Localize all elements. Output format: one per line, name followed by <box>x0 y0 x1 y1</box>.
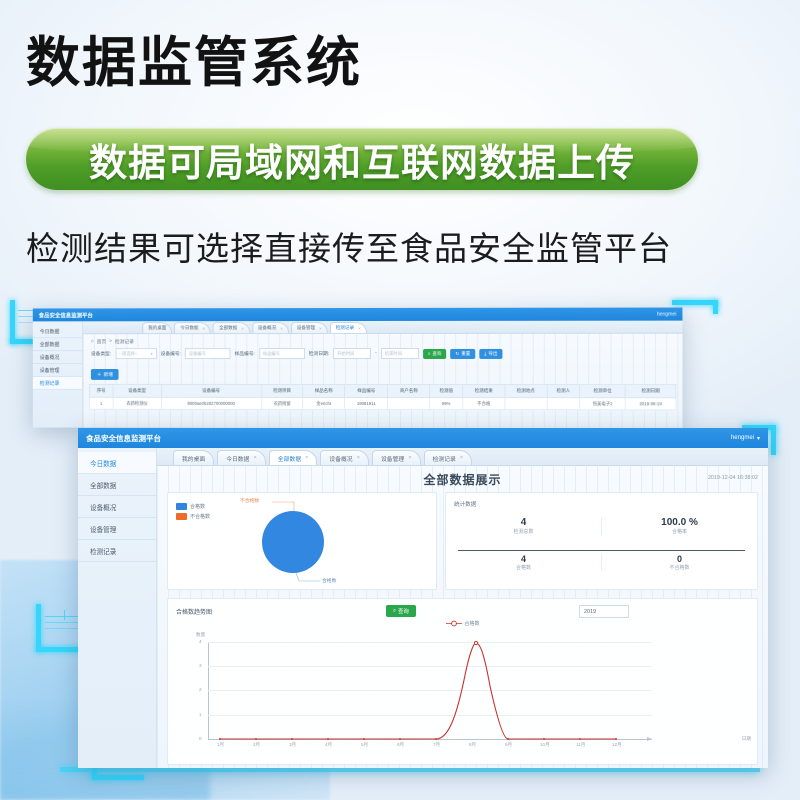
cell-detect-person <box>547 398 580 410</box>
stat-cell-fail-count: 0 不合格数 <box>602 554 757 571</box>
back-window-body: 今日数据 全部数据 设备概况 设备管理 检测记录 我的桌面 今日数据× 全部数据… <box>33 321 683 429</box>
tab-label: 今日数据 <box>180 325 198 331</box>
tab-my-desktop[interactable]: 我的桌面 <box>173 450 214 465</box>
breadcrumb-home[interactable]: 首页 <box>97 338 106 345</box>
filter-input-sample-no[interactable]: 样品编号 <box>259 348 305 359</box>
page-header: 全部数据展示 2019-12-04 16:38:02 <box>157 466 768 492</box>
front-window-body: 今日数据 全部数据 设备概况 设备管理 检测记录 我的桌面 今日数据× 全部数据… <box>78 448 768 768</box>
filter-select-value: --请选择-- <box>119 351 137 357</box>
button-label: 查询 <box>432 350 441 356</box>
filter-label-device-type: 设备类型: <box>91 350 111 357</box>
back-tabstrip: 我的桌面 今日数据× 全部数据× 设备概况× 设备管理× 检测记录× <box>83 321 682 335</box>
stat-cell-total: 4 检测总数 <box>446 517 602 535</box>
col-detect-result: 检测结果 <box>463 385 505 398</box>
sidebar-item-device-overview[interactable]: 设备概况 <box>33 351 82 364</box>
filter-label-device-no: 设备编号: <box>161 350 181 357</box>
filter-select-device-type[interactable]: --请选择--▾ <box>115 348 157 359</box>
front-content: 我的桌面 今日数据× 全部数据× 设备概况× 设备管理× 检测记录× 全部数据展… <box>157 448 768 768</box>
trend-chart-panel: 合格数趋势图 2019 ⌕查询 合格数 <box>167 598 758 765</box>
tab-label: 设备管理 <box>297 325 315 331</box>
trend-year-input[interactable]: 2019 <box>579 605 629 618</box>
tab-label: 设备管理 <box>381 454 404 463</box>
sidebar-item-device-management[interactable]: 设备管理 <box>78 518 156 540</box>
close-icon[interactable]: × <box>202 326 205 331</box>
sidebar-item-today-data[interactable]: 今日数据 <box>78 452 156 474</box>
close-icon[interactable]: × <box>241 326 244 331</box>
close-icon[interactable]: × <box>305 455 308 461</box>
placeholder-text: 设备编号 <box>189 351 206 357</box>
pie-chart-panel: 合格数 不合格数 不合格数 合格 <box>167 492 437 590</box>
tab-label: 设备概况 <box>258 325 276 331</box>
tab-label: 全部数据 <box>278 454 301 463</box>
sidebar-item-all-data[interactable]: 全部数据 <box>78 474 156 496</box>
plus-icon: ＋ <box>97 371 102 378</box>
back-user-menu[interactable]: hengmei <box>657 311 676 317</box>
cell-detect-result: 不合格 <box>463 398 505 410</box>
table-header-row: 序号 设备类型 设备编号 检测项目 样品名称 样品编号 商户名称 检测值 检测结… <box>89 384 675 397</box>
cell-detect-value: 99% <box>430 398 463 410</box>
tab-label: 设备概况 <box>329 454 352 463</box>
stat-value: 4 <box>446 517 601 528</box>
close-icon[interactable]: × <box>319 326 322 331</box>
stat-caption: 不合格数 <box>602 564 757 571</box>
poster-canvas: 数据监管系统 数据可局域网和互联网数据上传 检测结果可选择直接传至食品安全监管平… <box>0 0 800 800</box>
col-merchant: 商户名称 <box>388 385 430 398</box>
stat-caption: 合格数 <box>446 564 601 571</box>
tab-device-management[interactable]: 设备管理× <box>372 450 421 465</box>
year-value: 2019 <box>584 609 596 615</box>
close-icon[interactable]: × <box>460 455 463 461</box>
filter-input-date-end[interactable]: 结束时间 <box>381 348 419 359</box>
filter-label-detect-date: 检测日期: <box>309 350 329 357</box>
front-app-window: 食品安全信息监测平台 hengmei ▾ 今日数据 全部数据 设备概况 设备管理… <box>78 428 768 768</box>
user-name: hengmei <box>731 435 754 441</box>
back-app-window: 食品安全信息监测平台 hengmei 今日数据 全部数据 设备概况 设备管理 检… <box>33 308 683 429</box>
tab-device-overview[interactable]: 设备概况× <box>320 450 369 465</box>
col-device-no: 设备编号 <box>161 384 261 397</box>
tab-all-data[interactable]: 全部数据× <box>269 450 318 465</box>
col-index: 序号 <box>89 384 113 397</box>
close-icon[interactable]: × <box>253 455 256 461</box>
button-label: 重置 <box>461 350 470 356</box>
sidebar-item-device-overview[interactable]: 设备概况 <box>78 496 156 518</box>
close-icon[interactable]: × <box>280 326 283 331</box>
x-axis-label: 日期 <box>742 736 751 742</box>
front-app-title: 食品安全信息监测平台 <box>86 433 161 444</box>
stats-divider <box>458 550 745 551</box>
tab-detection-records[interactable]: 检测记录× <box>330 322 367 333</box>
reset-button[interactable]: ↻重置 <box>450 348 475 358</box>
stat-cell-pass-count: 4 合格数 <box>446 554 602 571</box>
tab-label: 我的桌面 <box>148 325 166 331</box>
back-content: 我的桌面 今日数据× 全部数据× 设备概况× 设备管理× 检测记录× ⌂ 首页 … <box>83 321 682 429</box>
statistics-panel: 统计数据 4 检测总数 100.0 % 合格率 <box>445 492 758 590</box>
cell-index: 1 <box>89 397 113 409</box>
stat-value: 4 <box>446 554 601 564</box>
col-detect-unit: 检测单位 <box>580 385 625 398</box>
export-button[interactable]: ⤓导出 <box>479 348 502 358</box>
stat-caption: 检测总数 <box>446 528 601 535</box>
chevron-down-icon: ▾ <box>757 435 760 442</box>
placeholder-text: 开始时间 <box>337 351 354 357</box>
page-timestamp: 2019-12-04 16:38:02 <box>708 475 758 481</box>
tab-label: 检测记录 <box>433 454 456 463</box>
button-label: 导出 <box>488 350 497 356</box>
tab-my-desktop[interactable]: 我的桌面 <box>142 322 172 333</box>
sidebar-item-device-management[interactable]: 设备管理 <box>33 364 82 377</box>
poster-highlight-banner: 数据可局域网和互联网数据上传 <box>26 128 698 190</box>
sidebar-item-detection-records[interactable]: 检测记录 <box>78 540 156 562</box>
add-button[interactable]: ＋新增 <box>91 369 119 380</box>
sidebar-item-detection-records[interactable]: 检测记录 <box>33 377 82 390</box>
cell-detect-item: 农药残留 <box>261 397 303 409</box>
search-button[interactable]: ⌕查询 <box>423 348 447 358</box>
cell-sample-no: 19081911 <box>345 397 388 409</box>
back-window-titlebar: 食品安全信息监测平台 hengmei <box>33 308 683 322</box>
stat-value: 0 <box>602 554 757 564</box>
stat-caption: 合格率 <box>602 528 757 535</box>
search-icon: ⌕ <box>393 608 396 615</box>
pie-label-fail: 不合格数 <box>240 497 259 504</box>
tab-today-data[interactable]: 今日数据× <box>174 322 211 333</box>
tab-label: 全部数据 <box>219 325 237 331</box>
poster-subtitle: 检测结果可选择直接传至食品安全监管平台 <box>26 222 672 270</box>
pie-label-pass: 合格数 <box>322 577 336 584</box>
placeholder-text: 样品编号 <box>263 351 280 357</box>
back-sidebar: 今日数据 全部数据 设备概况 设备管理 检测记录 <box>33 321 83 427</box>
cell-sample-name: 金ericht <box>303 397 345 409</box>
line-series-path <box>168 618 668 758</box>
col-detect-person: 检测人 <box>547 385 580 398</box>
button-label: 新增 <box>104 371 113 378</box>
stat-value: 100.0 % <box>602 517 757 528</box>
stat-cell-pass-rate: 100.0 % 合格率 <box>602 517 757 535</box>
filter-input-date-start[interactable]: 开始时间 <box>333 348 371 359</box>
cell-detect-place <box>505 398 547 410</box>
sidebar-item-today-data[interactable]: 今日数据 <box>33 325 82 338</box>
back-app-title: 食品安全信息监测平台 <box>39 311 93 319</box>
button-label: 查询 <box>398 607 409 615</box>
front-window-titlebar: 食品安全信息监测平台 hengmei ▾ <box>78 428 768 448</box>
reset-icon: ↻ <box>455 350 459 356</box>
line-chart-area: 合格数 数量 日期 4 3 <box>168 618 757 758</box>
tab-label: 今日数据 <box>226 454 249 463</box>
col-sample-no: 样品编号 <box>345 384 388 397</box>
filter-label-sample-no: 样品编号: <box>234 350 254 357</box>
page-title: 全部数据展示 <box>423 471 501 488</box>
tab-device-overview[interactable]: 设备概况× <box>252 322 289 333</box>
col-detect-date: 检测日期 <box>625 385 676 398</box>
placeholder-text: 结束时间 <box>385 350 402 356</box>
trend-title: 合格数趋势图 <box>176 607 212 616</box>
col-device-type: 设备类型 <box>113 384 161 397</box>
home-icon: ⌂ <box>91 339 94 344</box>
sidebar-item-all-data[interactable]: 全部数据 <box>33 338 82 351</box>
cell-device-no: 8906ae06282700000000 <box>161 397 261 409</box>
poster-main-title: 数据监管系统 <box>26 36 362 90</box>
cell-detect-date: 2019-08-19 <box>625 398 676 410</box>
back-filter-toolbar: 设备类型: --请选择--▾ 设备编号: 设备编号 样品编号: 样品编号 检测日… <box>83 348 682 359</box>
col-detect-value: 检测值 <box>430 385 463 398</box>
col-sample-name: 样品名称 <box>303 384 345 397</box>
filter-input-device-no[interactable]: 设备编号 <box>185 348 231 359</box>
pie-leader-lines <box>168 493 436 589</box>
cell-merchant <box>388 398 430 410</box>
front-tabstrip: 我的桌面 今日数据× 全部数据× 设备概况× 设备管理× 检测记录× <box>157 448 768 466</box>
statistics-title: 统计数据 <box>454 500 476 508</box>
breadcrumb: ⌂ 首页 > 检测记录 <box>83 334 682 348</box>
tab-detection-records[interactable]: 检测记录× <box>424 450 473 465</box>
search-icon: ⌕ <box>428 351 431 356</box>
col-detect-place: 检测地点 <box>505 385 547 398</box>
breadcrumb-current: 检测记录 <box>115 338 134 345</box>
tab-device-management[interactable]: 设备管理× <box>291 322 328 333</box>
front-sidebar: 今日数据 全部数据 设备概况 设备管理 检测记录 <box>78 448 157 768</box>
date-range-separator: - <box>375 351 377 356</box>
table-row[interactable]: 1 农药检测仪 8906ae06282700000000 农药残留 金erich… <box>89 397 675 410</box>
tab-all-data[interactable]: 全部数据× <box>213 322 250 333</box>
close-icon[interactable]: × <box>358 325 361 330</box>
trend-search-button[interactable]: ⌕查询 <box>386 605 416 617</box>
cell-detect-unit: 恒美电子2 <box>580 398 625 410</box>
cell-device-type: 农药检测仪 <box>113 397 161 409</box>
export-icon: ⤓ <box>484 351 486 356</box>
poster-highlight-text: 数据可局域网和互联网数据上传 <box>89 132 635 187</box>
tab-today-data[interactable]: 今日数据× <box>217 450 266 465</box>
tab-label: 检测记录 <box>336 325 354 331</box>
chevron-down-icon: ▾ <box>151 351 153 357</box>
col-detect-item: 检测项目 <box>261 384 303 397</box>
close-icon[interactable]: × <box>357 455 360 461</box>
detection-records-table: 序号 设备类型 设备编号 检测项目 样品名称 样品编号 商户名称 检测值 检测结… <box>89 384 676 410</box>
breadcrumb-separator: > <box>109 339 112 344</box>
tab-label: 我的桌面 <box>182 454 205 463</box>
user-menu[interactable]: hengmei ▾ <box>731 435 760 442</box>
close-icon[interactable]: × <box>408 455 411 461</box>
